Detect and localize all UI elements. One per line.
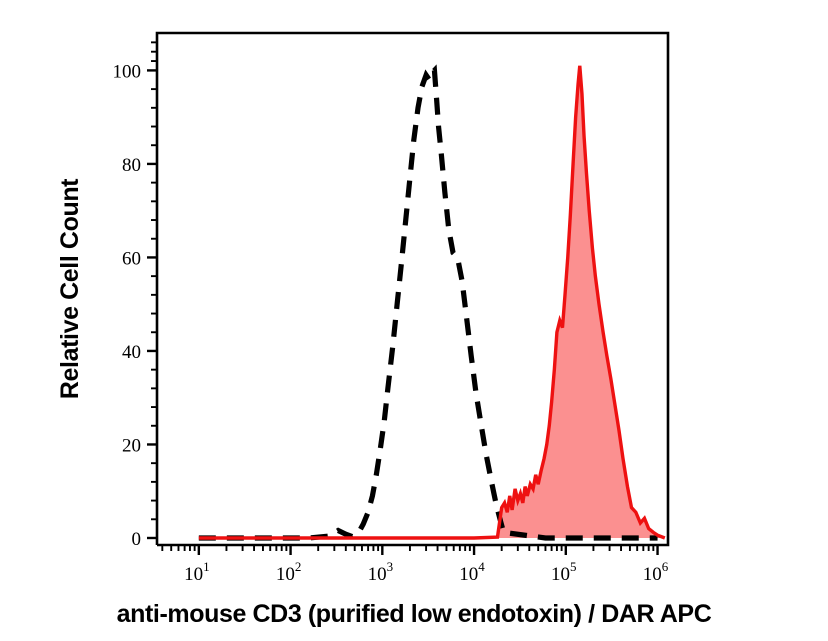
x-tick-label: 102 bbox=[276, 559, 302, 585]
y-tick-label: 80 bbox=[122, 155, 141, 176]
x-axis-tick-labels: 101102103104105106 bbox=[184, 559, 669, 585]
x-axis-title: anti-mouse CD3 (purified low endotoxin) … bbox=[117, 600, 712, 628]
x-tick-label: 104 bbox=[459, 559, 485, 585]
y-axis-tick-labels: 020406080100 bbox=[113, 61, 142, 550]
x-tick-label: 101 bbox=[184, 559, 210, 585]
figure-canvas: 020406080100 101102103104105106 anti-mou… bbox=[0, 0, 828, 641]
y-tick-label: 0 bbox=[132, 529, 142, 550]
y-axis-ticks bbox=[147, 42, 157, 538]
x-tick-label: 103 bbox=[368, 559, 394, 585]
y-tick-label: 20 bbox=[122, 435, 141, 456]
y-tick-label: 60 bbox=[122, 248, 141, 269]
y-tick-label: 40 bbox=[122, 342, 141, 363]
y-tick-label: 100 bbox=[113, 61, 142, 82]
x-axis-ticks bbox=[162, 545, 657, 555]
histogram-plot: 020406080100 101102103104105106 anti-mou… bbox=[0, 0, 828, 641]
x-tick-label: 106 bbox=[643, 559, 669, 585]
x-tick-label: 105 bbox=[551, 559, 577, 585]
y-axis-title: Relative Cell Count bbox=[56, 178, 84, 399]
